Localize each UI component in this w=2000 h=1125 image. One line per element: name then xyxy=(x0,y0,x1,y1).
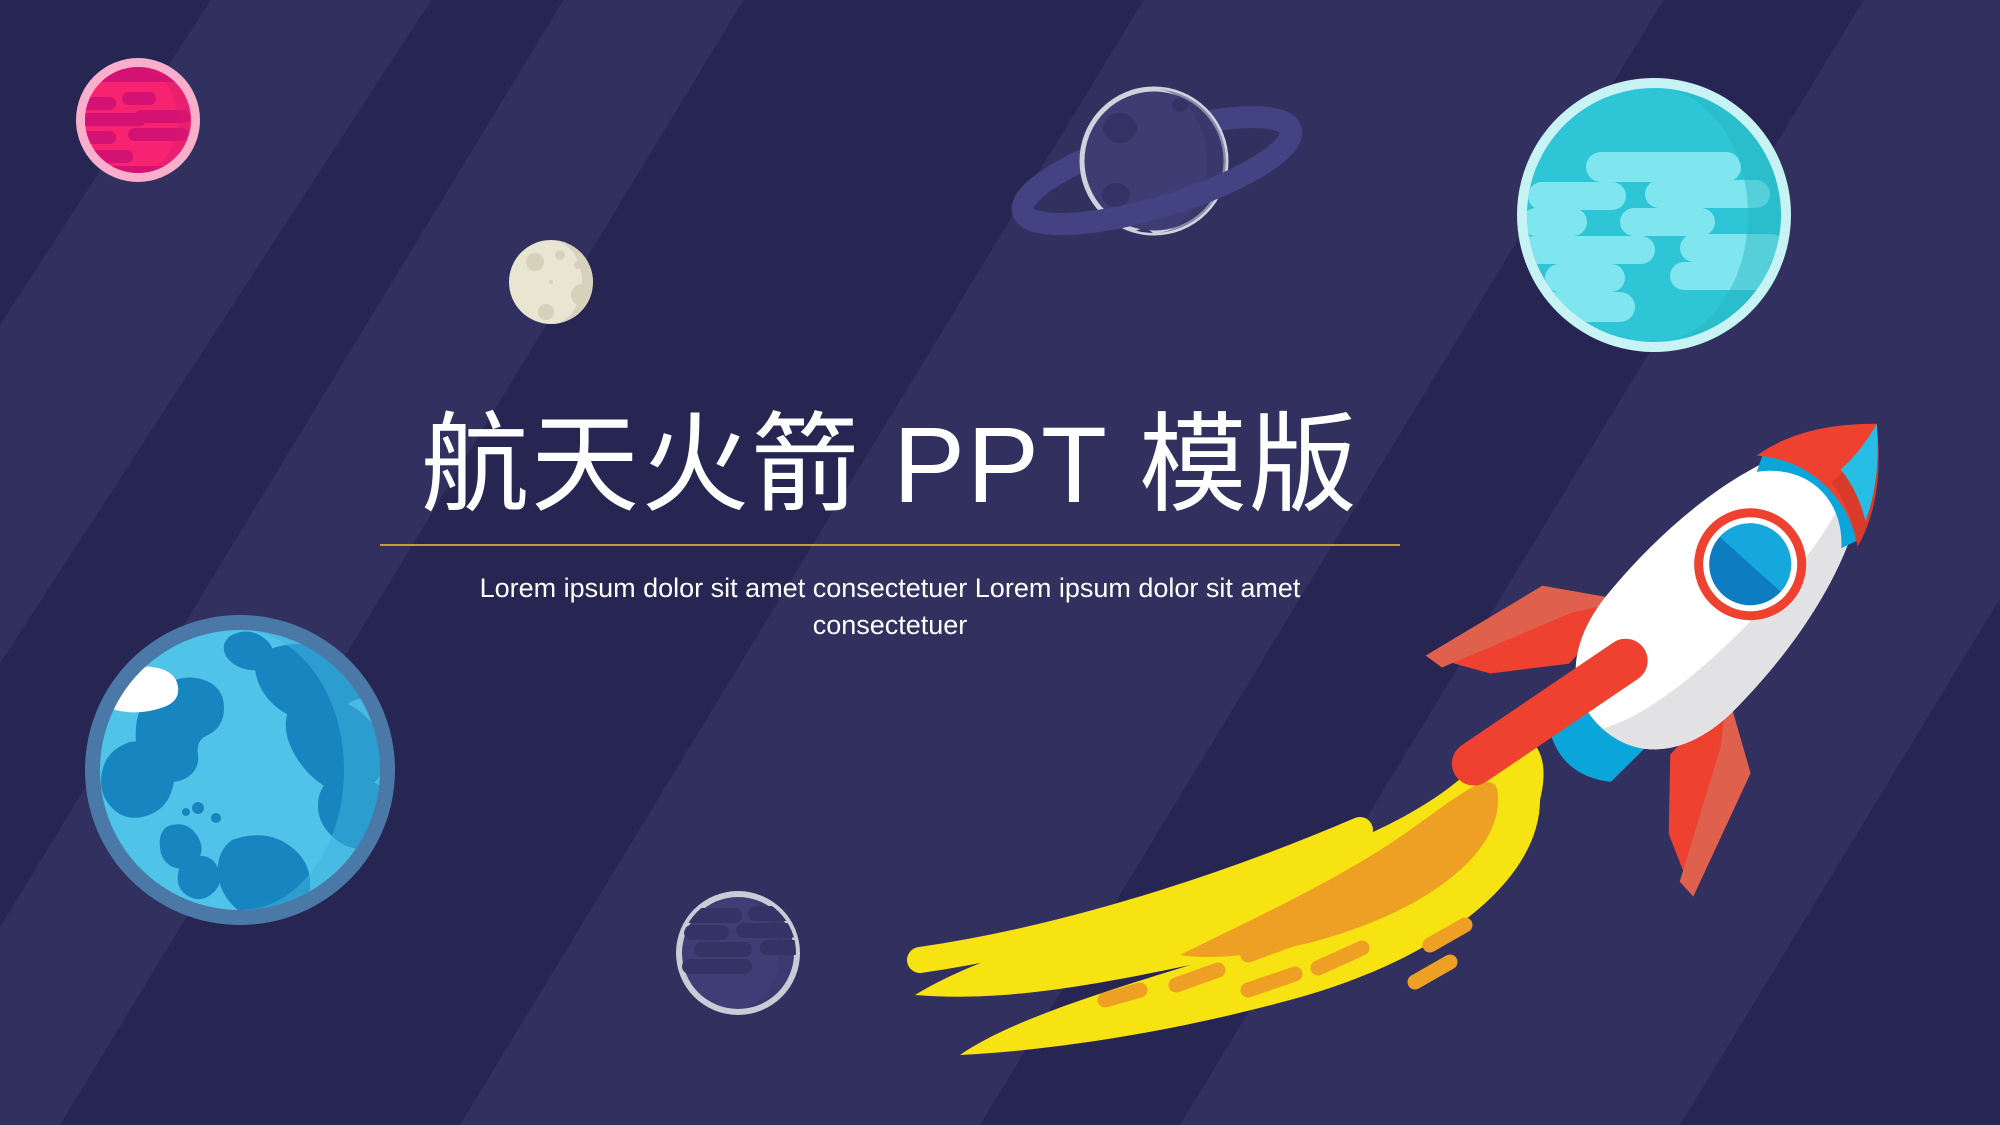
title-group: 航天火箭 PPT 模版 Lorem ipsum dolor sit amet c… xyxy=(380,405,1400,644)
page-title: 航天火箭 PPT 模版 xyxy=(380,405,1400,526)
presentation-slide: 航天火箭 PPT 模版 Lorem ipsum dolor sit amet c… xyxy=(0,0,2000,1125)
page-subtitle: Lorem ipsum dolor sit amet consectetuer … xyxy=(415,570,1365,645)
title-divider xyxy=(380,544,1400,546)
